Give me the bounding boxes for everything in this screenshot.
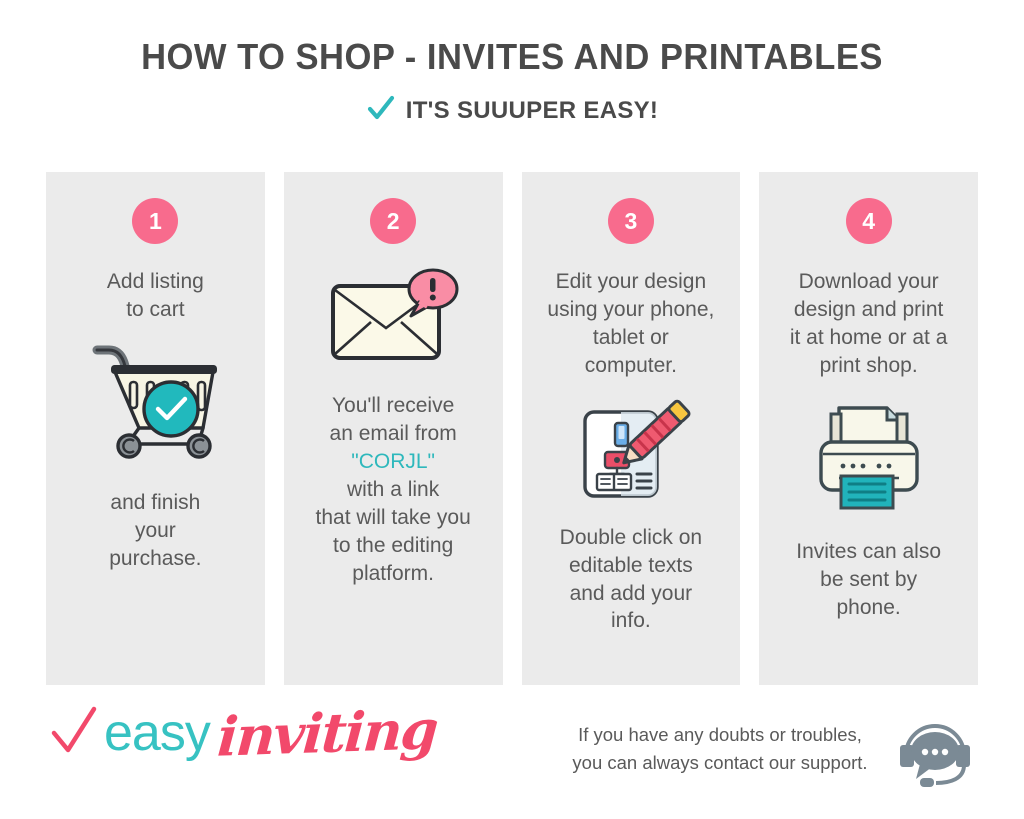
- step-2-text-pre: You'll receive an email from: [330, 394, 457, 445]
- step-panel-1: 1 Add listing to cart: [46, 172, 265, 685]
- footer: easy inviting If you have any doubts or …: [0, 693, 1024, 819]
- envelope-alert-icon: [323, 266, 463, 366]
- step-badge-3: 3: [608, 198, 654, 244]
- brand-logo: easy inviting: [48, 701, 436, 765]
- step-badge-2: 2: [370, 198, 416, 244]
- step-panel-2: 2 You'll receive an email from "CORJL" w…: [284, 172, 503, 685]
- support-line-1: If you have any doubts or troubles,: [510, 721, 930, 749]
- support-line-2: you can always contact our support.: [510, 749, 930, 777]
- subtitle: IT'S SUUUPER EASY!: [0, 94, 1024, 129]
- support-text: If you have any doubts or troubles, you …: [510, 721, 930, 777]
- steps-container: 1 Add listing to cart: [46, 172, 978, 685]
- step-1-text-top: Add listing to cart: [97, 268, 214, 324]
- step-2-text-post: with a link that will take you to the ed…: [316, 478, 471, 585]
- check-icon: [48, 703, 100, 764]
- step-2-highlight-corjl: "CORJL": [351, 450, 435, 473]
- step-badge-4: 4: [846, 198, 892, 244]
- page-title: HOW TO SHOP - INVITES AND PRINTABLES: [20, 38, 1003, 76]
- headset-support-icon: [892, 707, 978, 798]
- step-2-text-bottom: You'll receive an email from "CORJL" wit…: [306, 392, 481, 587]
- header: HOW TO SHOP - INVITES AND PRINTABLES IT'…: [0, 0, 1024, 129]
- shopping-cart-check-icon: [85, 336, 225, 461]
- logo-word-easy: easy: [104, 703, 210, 763]
- subtitle-text: IT'S SUUUPER EASY!: [406, 97, 658, 125]
- step-3-text-top: Edit your design using your phone, table…: [537, 268, 724, 380]
- check-icon: [366, 94, 396, 129]
- step-1-text-bottom: and finish your purchase.: [99, 489, 211, 573]
- step-panel-3: 3 Edit your design using your phone, tab…: [522, 172, 741, 685]
- printer-icon: [813, 400, 925, 510]
- step-badge-1: 1: [132, 198, 178, 244]
- logo-word-inviting: inviting: [215, 697, 438, 769]
- step-panel-4: 4 Download your design and print it at h…: [759, 172, 978, 685]
- design-edit-pencil-icon: [571, 392, 691, 504]
- step-4-text-top: Download your design and print it at hom…: [780, 268, 958, 380]
- step-3-text-bottom: Double click on editable texts and add y…: [550, 524, 712, 636]
- step-4-text-bottom: Invites can also be sent by phone.: [786, 538, 951, 622]
